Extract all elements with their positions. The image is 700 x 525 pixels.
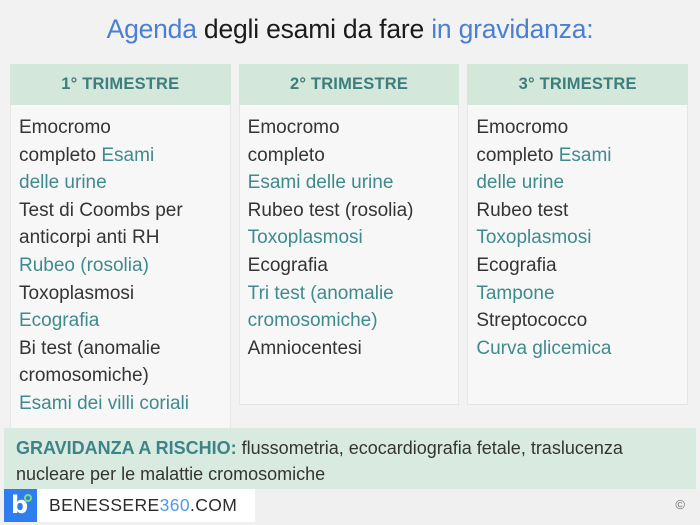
exam-item-text: delle urine: [19, 172, 107, 193]
high-risk-pregnancy-text: GRAVIDANZA A RISCHIO: flussometria, ecoc…: [16, 435, 686, 487]
exam-item-text: completo: [19, 145, 101, 166]
exam-item[interactable]: delle urine: [19, 169, 224, 197]
column-header-trimester-3: 3° TRIMESTRE: [467, 64, 688, 105]
high-risk-label: GRAVIDANZA A RISCHIO:: [16, 438, 237, 458]
exam-item-text: Ecografia: [476, 255, 556, 276]
brand-number: 360: [160, 495, 190, 515]
exam-item-text: Ecografia: [248, 255, 328, 276]
logo-circle-icon: [24, 494, 32, 502]
page-title-middle: degli esami da fare: [197, 14, 431, 44]
exam-item[interactable]: Rubeo (rosolia): [19, 252, 224, 280]
exam-item-text-suffix[interactable]: Esami: [559, 145, 612, 166]
brand-wordmark: BENESSERE360.COM: [49, 495, 237, 516]
copyright-icon: ©: [675, 497, 685, 512]
exam-item-text: completo: [476, 145, 558, 166]
exam-item: completo Esami: [19, 142, 224, 170]
exam-item: completo: [248, 142, 453, 170]
exam-item[interactable]: Esami delle urine: [248, 169, 453, 197]
page-title-bar: Agenda degli esami da fare in gravidanza…: [0, 0, 700, 58]
exam-item-text: Toxoplasmosi: [19, 283, 134, 304]
page-title: Agenda degli esami da fare in gravidanza…: [107, 14, 594, 45]
exam-item-text: Bi test (anomalie: [19, 338, 161, 359]
brand-tld: .COM: [190, 495, 237, 515]
exam-item-text: Emocromo: [248, 117, 340, 138]
exam-item-text: Rubeo test: [476, 200, 568, 221]
exam-item-text: Tri test (anomalie: [248, 283, 394, 304]
high-risk-pregnancy-band: GRAVIDANZA A RISCHIO: flussometria, ecoc…: [4, 428, 696, 495]
footer-bar: b BENESSERE360.COM ©: [0, 489, 700, 525]
exam-item: Test di Coombs per: [19, 197, 224, 225]
column-body-trimester-3: Emocromocompleto Esamidelle urineRubeo t…: [467, 105, 688, 405]
benessere360-logo-icon: b: [4, 489, 37, 522]
agenda-table: 1° TRIMESTRE Emocromocompleto Esamidelle…: [10, 64, 688, 429]
exam-item: Emocromo: [476, 114, 681, 142]
trimester-column-2: 2° TRIMESTRE EmocromocompletoEsami delle…: [239, 64, 460, 429]
exam-item: Emocromo: [19, 114, 224, 142]
exam-item: anticorpi anti RH: [19, 224, 224, 252]
exam-item-text: Curva glicemica: [476, 338, 611, 359]
exam-item: Bi test (anomalie: [19, 335, 224, 363]
exam-item-text: Ecografia: [19, 310, 99, 331]
brand-name: BENESSERE: [49, 495, 160, 515]
column-header-trimester-1: 1° TRIMESTRE: [10, 64, 231, 105]
exam-item[interactable]: Toxoplasmosi: [248, 224, 453, 252]
exam-item-text: Streptococco: [476, 310, 587, 331]
exam-item-text: cromosomiche): [19, 365, 149, 386]
column-body-trimester-2: EmocromocompletoEsami delle urineRubeo t…: [239, 105, 460, 405]
exam-item-text: delle urine: [476, 172, 564, 193]
exam-item-text: Emocromo: [476, 117, 568, 138]
exam-item: Amniocentesi: [248, 335, 453, 363]
exam-item[interactable]: Esami dei villi coriali: [19, 390, 224, 418]
exam-item: completo Esami: [476, 142, 681, 170]
exam-item-text: anticorpi anti RH: [19, 227, 159, 248]
exam-item: Streptococco: [476, 307, 681, 335]
exam-item-text: Toxoplasmosi: [248, 227, 363, 248]
column-body-trimester-1: Emocromocompleto Esamidelle urineTest di…: [10, 105, 231, 429]
exam-item-text: Tampone: [476, 283, 554, 304]
exam-item[interactable]: delle urine: [476, 169, 681, 197]
column-header-trimester-2: 2° TRIMESTRE: [239, 64, 460, 105]
page-title-accent-start: Agenda: [107, 14, 197, 44]
exam-item: Ecografia: [476, 252, 681, 280]
trimester-column-3: 3° TRIMESTRE Emocromocompleto Esamidelle…: [467, 64, 688, 429]
exam-item-text: Esami dei villi coriali: [19, 393, 189, 414]
exam-item: Ecografia: [248, 252, 453, 280]
exam-item-text: cromosomiche): [248, 310, 378, 331]
exam-item[interactable]: cromosomiche): [248, 307, 453, 335]
exam-item-text: completo: [248, 145, 325, 166]
exam-item[interactable]: Tampone: [476, 280, 681, 308]
exam-item: Rubeo test: [476, 197, 681, 225]
exam-item: Rubeo test (rosolia): [248, 197, 453, 225]
exam-item-text-suffix[interactable]: Esami: [101, 145, 154, 166]
exam-item: Emocromo: [248, 114, 453, 142]
exam-item[interactable]: Tri test (anomalie: [248, 280, 453, 308]
trimester-column-1: 1° TRIMESTRE Emocromocompleto Esamidelle…: [10, 64, 231, 429]
exam-item-text: Emocromo: [19, 117, 111, 138]
exam-item-text: Rubeo (rosolia): [19, 255, 149, 276]
page-title-accent-end: in gravidanza:: [431, 14, 593, 44]
exam-item[interactable]: Toxoplasmosi: [476, 224, 681, 252]
exam-item-text: Esami delle urine: [248, 172, 394, 193]
exam-item-text: Toxoplasmosi: [476, 227, 591, 248]
brand-block[interactable]: b BENESSERE360.COM: [4, 489, 255, 522]
exam-item[interactable]: Curva glicemica: [476, 335, 681, 363]
exam-item: Toxoplasmosi: [19, 280, 224, 308]
exam-item-text: Rubeo test (rosolia): [248, 200, 414, 221]
exam-item-text: Test di Coombs per: [19, 200, 183, 221]
exam-item-text: Amniocentesi: [248, 338, 362, 359]
exam-item[interactable]: Ecografia: [19, 307, 224, 335]
exam-item: cromosomiche): [19, 362, 224, 390]
